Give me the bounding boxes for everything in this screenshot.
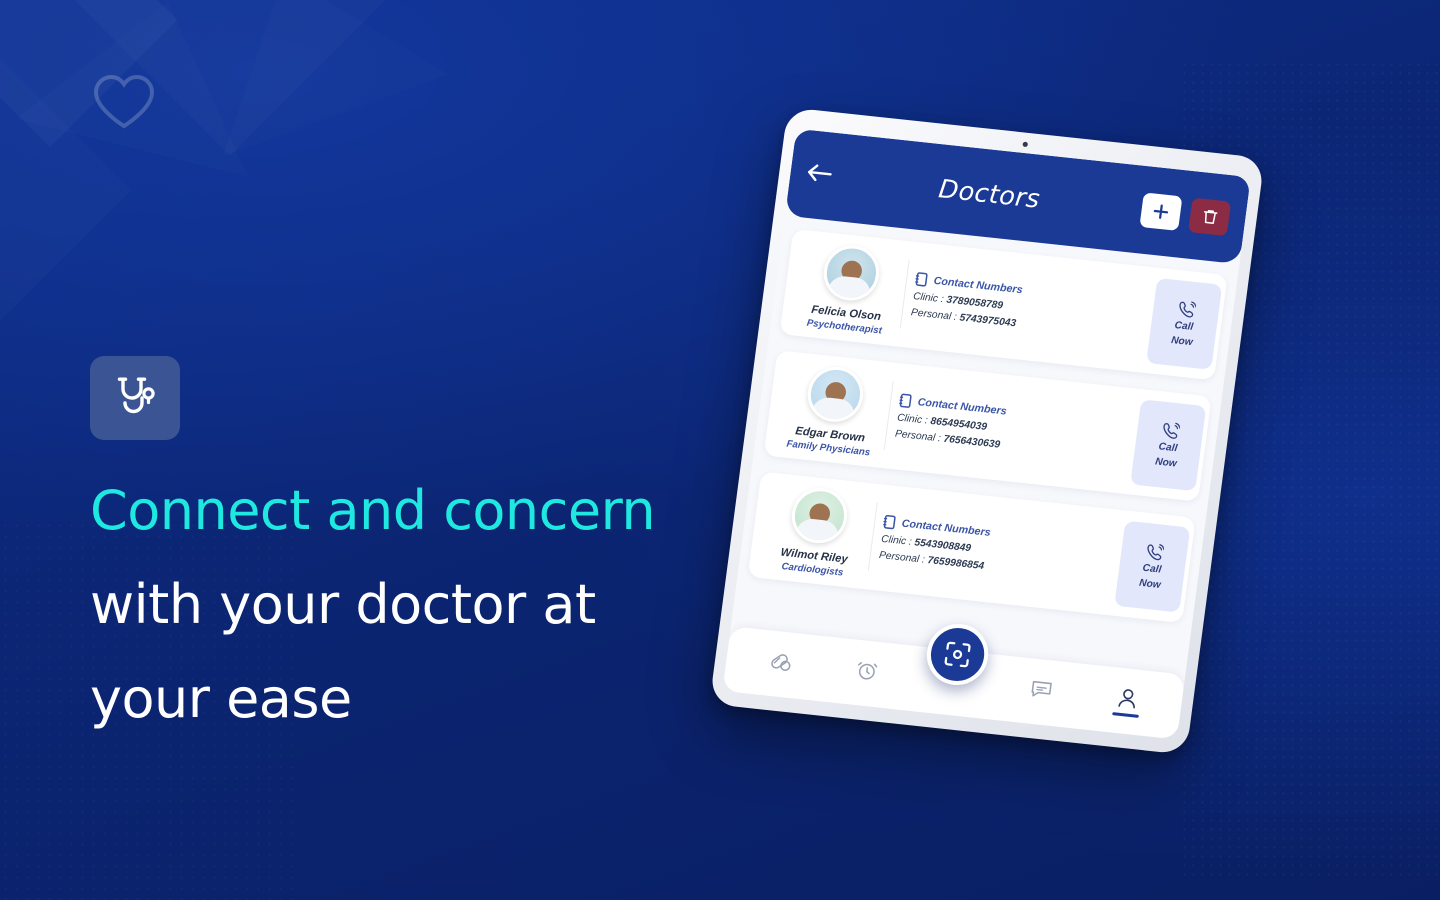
stethoscope-icon (113, 375, 157, 421)
call-label-line2: Now (1138, 577, 1161, 591)
clinic-label: Clinic : (896, 412, 928, 426)
nav-item-profile[interactable] (1098, 684, 1157, 719)
pill-icon (768, 648, 793, 673)
personal-label: Personal : (910, 307, 957, 323)
call-label-line1: Call (1142, 563, 1162, 577)
add-doctor-button[interactable] (1139, 192, 1182, 231)
call-label-line2: Now (1154, 456, 1177, 470)
contact-numbers-text: Contact Numbers (933, 275, 1023, 297)
doctor-identity: Felicia Olson Psychotherapist (789, 238, 910, 339)
personal-label: Personal : (878, 550, 925, 566)
call-label-line1: Call (1174, 320, 1194, 334)
phone-call-icon (1144, 542, 1164, 561)
call-now-button[interactable]: Call Now (1146, 278, 1222, 370)
personal-number: 5743975043 (959, 312, 1017, 329)
phone-call-icon (1176, 300, 1196, 319)
headline-line-2: with your doctor at (90, 578, 790, 632)
personal-number: 7659986854 (927, 555, 985, 572)
phone-book-icon (899, 393, 913, 408)
clinic-label: Clinic : (912, 291, 944, 305)
doctor-identity: Edgar Brown Family Physicians (773, 359, 894, 460)
nav-item-messages[interactable] (1011, 674, 1070, 709)
phone-book-icon (883, 514, 897, 529)
call-label-line2: Now (1170, 334, 1193, 348)
doctor-list[interactable]: Felicia Olson Psychotherapist Contact Nu… (731, 216, 1240, 675)
clinic-number: 3789058789 (946, 294, 1004, 311)
nav-item-reminders[interactable] (838, 656, 897, 691)
avatar (788, 485, 850, 545)
avatar (820, 243, 882, 303)
hero-section: Connect and concern with your doctor at … (90, 356, 790, 726)
avatar (804, 364, 866, 424)
contact-block: Contact Numbers Clinic : 5543908849 Pers… (876, 493, 1126, 607)
clinic-number: 8654954039 (930, 416, 988, 433)
chat-bubble-icon (1029, 676, 1054, 701)
plus-icon (1152, 203, 1170, 221)
user-icon (1115, 686, 1140, 711)
app-screen: Doctors (722, 129, 1251, 740)
call-now-button[interactable]: Call Now (1130, 399, 1206, 491)
call-label-line1: Call (1158, 441, 1178, 455)
clinic-number: 5543908849 (914, 537, 972, 554)
phone-call-icon (1160, 421, 1180, 440)
contact-numbers-text: Contact Numbers (901, 517, 991, 539)
nav-item-medicine[interactable] (751, 647, 810, 682)
back-arrow-icon[interactable] (805, 162, 839, 190)
heart-icon (92, 72, 156, 130)
personal-number: 7656430639 (943, 434, 1001, 451)
contact-block: Contact Numbers Clinic : 3789058789 Pers… (907, 250, 1157, 364)
alarm-clock-icon (855, 658, 880, 683)
page-title: Doctors (846, 164, 1134, 224)
trash-icon (1201, 208, 1218, 226)
personal-label: Personal : (894, 428, 941, 444)
contact-block: Contact Numbers Clinic : 8654954039 Pers… (892, 372, 1142, 486)
doctor-identity: Wilmot Riley Cardiologists (757, 480, 878, 581)
hero-headline: Connect and concern with your doctor at … (90, 484, 790, 726)
stethoscope-badge (90, 356, 180, 440)
contact-numbers-text: Contact Numbers (917, 396, 1007, 418)
tablet-mockup: Doctors (742, 128, 1362, 768)
headline-line-1: Connect and concern (90, 484, 790, 538)
clinic-label: Clinic : (880, 534, 912, 548)
phone-book-icon (915, 272, 929, 287)
scan-icon (942, 639, 974, 670)
call-now-button[interactable]: Call Now (1114, 521, 1190, 613)
delete-doctor-button[interactable] (1188, 198, 1231, 237)
headline-line-3: your ease (90, 672, 790, 726)
